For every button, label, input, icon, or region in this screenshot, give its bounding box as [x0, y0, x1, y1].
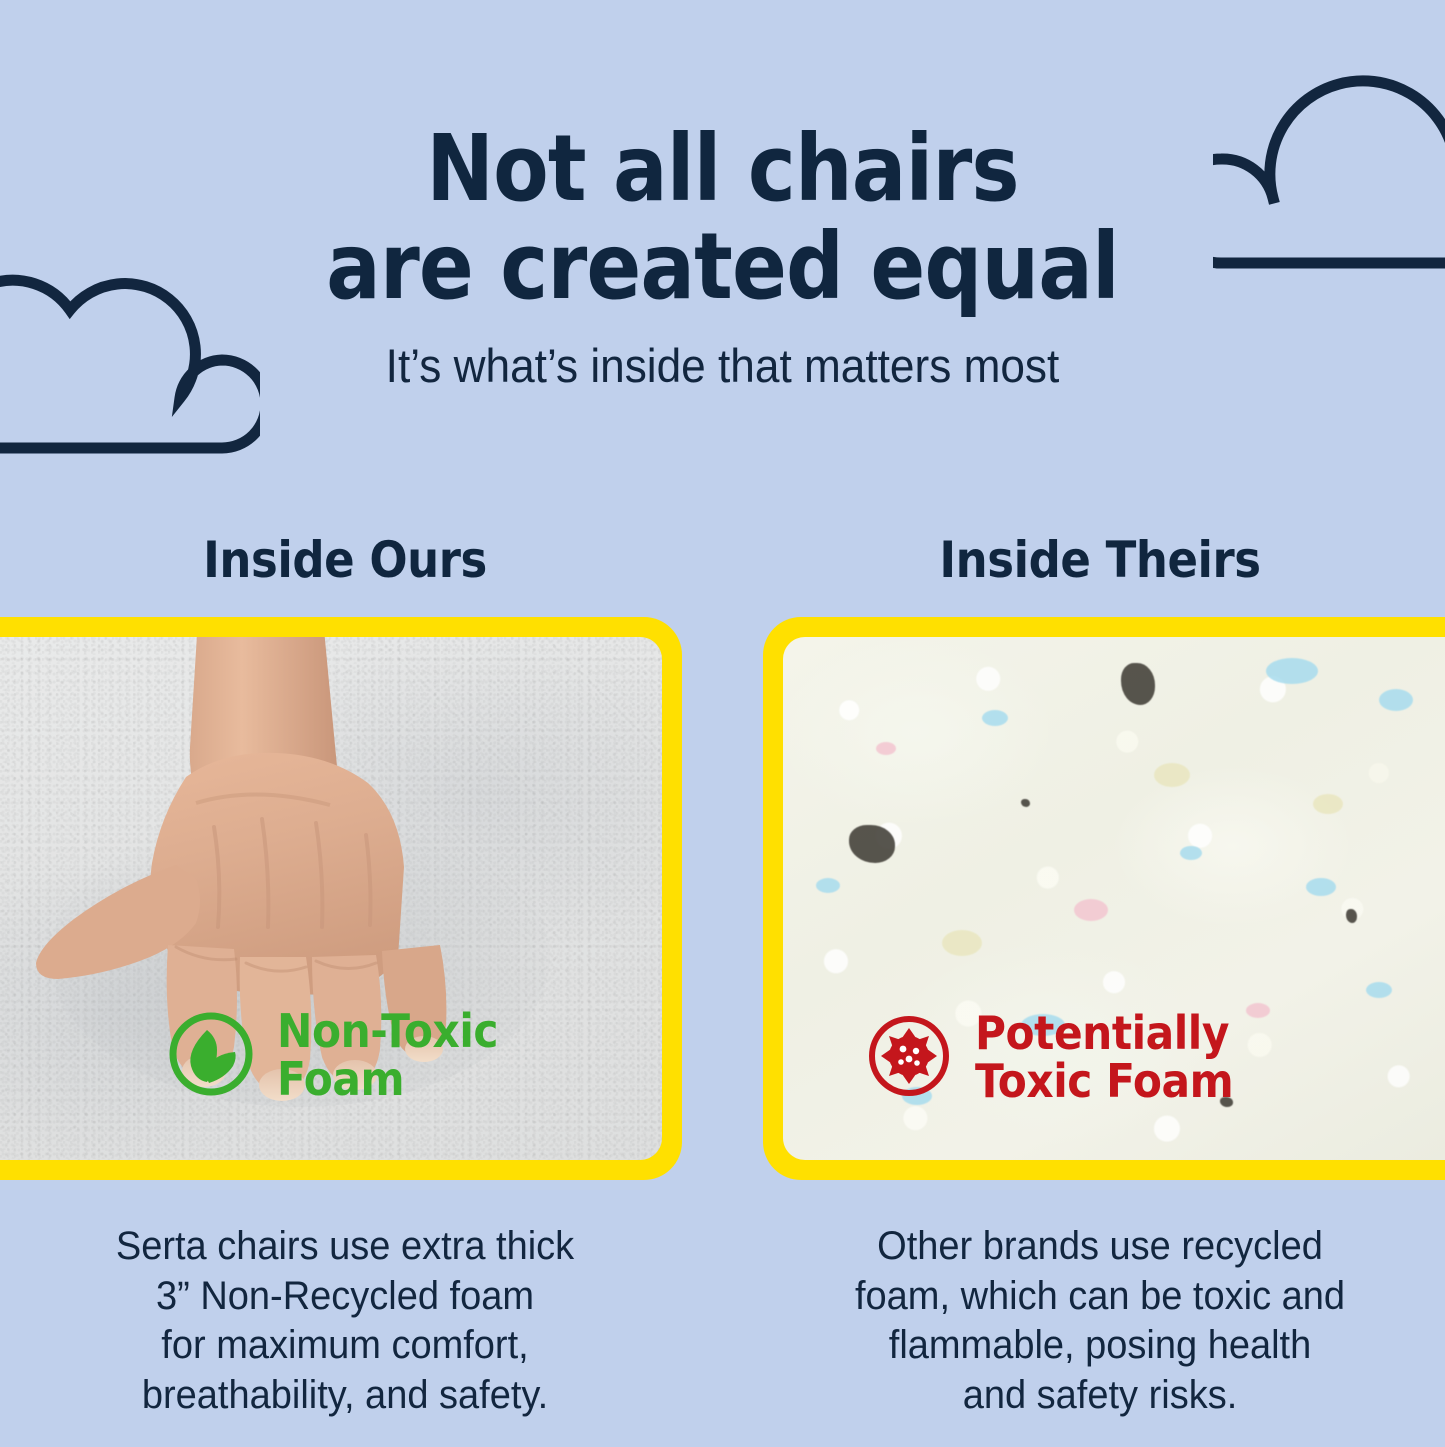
badge-label-line-1: Potentially — [975, 1006, 1229, 1060]
badge-label-line-1: Non-Toxic — [277, 1004, 498, 1058]
caption-line: flammable, posing health — [782, 1321, 1419, 1371]
caption-line: for maximum comfort, — [27, 1321, 664, 1371]
panel-inside-ours: Non-Toxic Foam — [0, 617, 682, 1180]
caption-line: breathability, and safety. — [27, 1371, 664, 1421]
caption-inside-ours: Serta chairs use extra thick 3” Non-Recy… — [27, 1222, 664, 1420]
photo-inside-theirs: Potentially Toxic Foam — [783, 637, 1445, 1160]
headline-line-1: Not all chairs — [87, 120, 1359, 218]
germ-icon — [863, 1010, 955, 1106]
badge-label-line-2: Foam — [277, 1056, 498, 1104]
badge-label: Potentially Toxic Foam — [975, 1010, 1233, 1106]
column-heading-ours: Inside Ours — [35, 531, 656, 589]
leaf-icon — [165, 1008, 257, 1104]
badge-label-line-2: Toxic Foam — [975, 1058, 1233, 1106]
caption-inside-theirs: Other brands use recycled foam, which ca… — [782, 1222, 1419, 1420]
promo-graphic: Not all chairs are created equal It’s wh… — [0, 0, 1445, 1447]
caption-line: 3” Non-Recycled foam — [27, 1272, 664, 1322]
caption-line: Serta chairs use extra thick — [27, 1222, 664, 1272]
badge-label: Non-Toxic Foam — [277, 1008, 498, 1104]
column-heading-theirs: Inside Theirs — [790, 531, 1411, 589]
headline-line-2: are created equal — [87, 218, 1359, 316]
badge-potentially-toxic-foam: Potentially Toxic Foam — [863, 1010, 1256, 1106]
page-subtitle: It’s what’s inside that matters most — [43, 338, 1401, 393]
caption-line: and safety risks. — [782, 1371, 1419, 1421]
photo-inside-ours: Non-Toxic Foam — [0, 637, 662, 1160]
caption-line: Other brands use recycled — [782, 1222, 1419, 1272]
badge-non-toxic-foam: Non-Toxic Foam — [165, 1008, 517, 1104]
caption-line: foam, which can be toxic and — [782, 1272, 1419, 1322]
panel-inside-theirs: Potentially Toxic Foam — [763, 617, 1445, 1180]
page-title: Not all chairs are created equal — [87, 120, 1359, 315]
